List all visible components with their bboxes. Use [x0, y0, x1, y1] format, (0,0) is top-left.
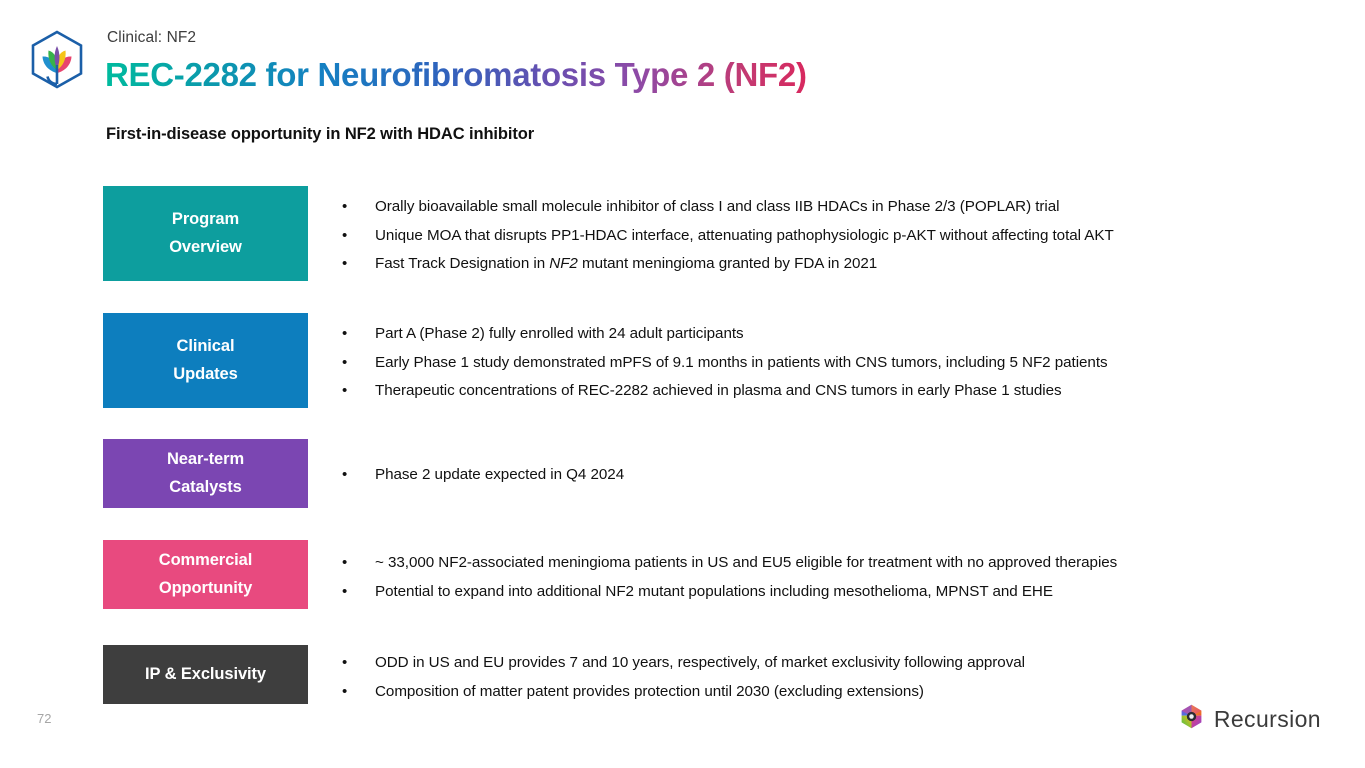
category-box-label: Near-termCatalysts — [167, 446, 244, 500]
recursion-cube-hexagon-icon — [1178, 703, 1205, 735]
slide: Clinical: NF2 REC-2282 for Neurofibromat… — [0, 0, 1365, 768]
category-box-label: IP & Exclusivity — [145, 661, 266, 688]
bullet-list: ~ 33,000 NF2-associated meningioma patie… — [335, 549, 1345, 606]
bullet-list: Orally bioavailable small molecule inhib… — [335, 193, 1345, 279]
bullet-item: Composition of matter patent provides pr… — [335, 678, 1345, 707]
bullet-item: Part A (Phase 2) fully enrolled with 24 … — [335, 320, 1345, 349]
brand-name: Recursion — [1214, 706, 1321, 733]
category-box[interactable]: IP & Exclusivity — [103, 645, 308, 704]
bullet-list: ODD in US and EU provides 7 and 10 years… — [335, 649, 1345, 706]
bullet-item: Fast Track Designation in NF2 mutant men… — [335, 250, 1345, 279]
bullet-item: ODD in US and EU provides 7 and 10 years… — [335, 649, 1345, 678]
brand-lockup: Recursion — [1178, 703, 1321, 735]
category-box-label: ProgramOverview — [169, 206, 242, 260]
bullet-item: Early Phase 1 study demonstrated mPFS of… — [335, 349, 1345, 378]
bullet-item: Unique MOA that disrupts PP1-HDAC interf… — [335, 222, 1345, 251]
bullet-item: Orally bioavailable small molecule inhib… — [335, 193, 1345, 222]
category-box[interactable]: ClinicalUpdates — [103, 313, 308, 408]
category-box[interactable]: Near-termCatalysts — [103, 439, 308, 508]
category-box[interactable]: ProgramOverview — [103, 186, 308, 281]
bullet-item: ~ 33,000 NF2-associated meningioma patie… — [335, 549, 1345, 578]
category-box-label: CommercialOpportunity — [159, 547, 252, 601]
category-box[interactable]: CommercialOpportunity — [103, 540, 308, 609]
category-box-label: ClinicalUpdates — [173, 333, 237, 387]
bullet-list: Phase 2 update expected in Q4 2024 — [335, 461, 1345, 490]
bullet-item: Therapeutic concentrations of REC-2282 a… — [335, 377, 1345, 406]
bullet-item: Phase 2 update expected in Q4 2024 — [335, 461, 1345, 490]
bullet-item: Potential to expand into additional NF2 … — [335, 578, 1345, 607]
section-rows: ProgramOverviewOrally bioavailable small… — [0, 0, 1365, 768]
page-number: 72 — [37, 711, 51, 726]
bullet-list: Part A (Phase 2) fully enrolled with 24 … — [335, 320, 1345, 406]
